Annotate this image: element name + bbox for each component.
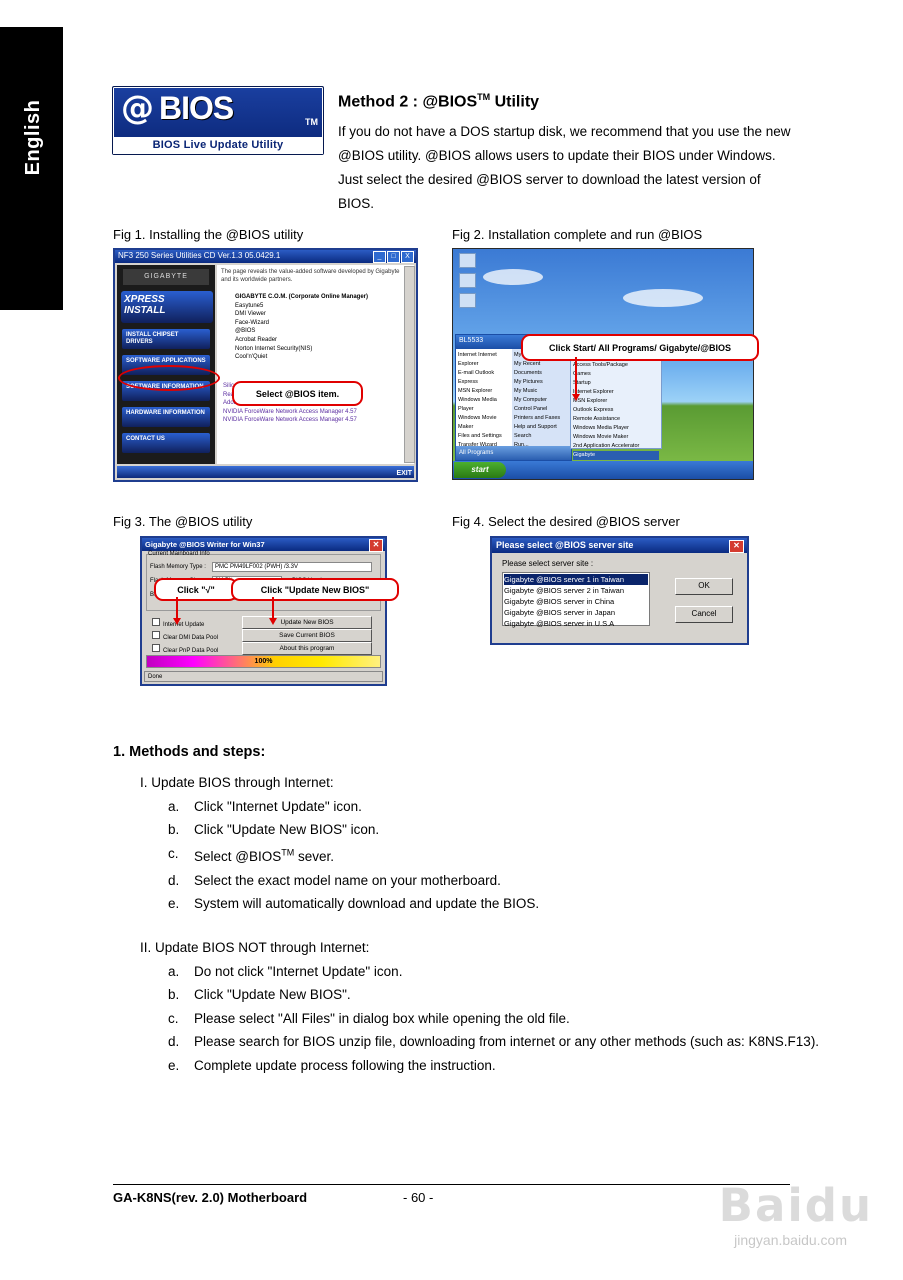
logo-subtitle: BIOS Live Update Utility [113,137,323,154]
language-tab-label: English [22,5,45,270]
folder-icon[interactable] [457,293,477,311]
fig3-arrow-left [176,597,178,619]
group-1-heading: I. Update BIOS through Internet: [140,771,800,795]
fig1-bottom-bar [117,466,414,478]
list-item[interactable]: Norton Internet Security(NIS) [235,345,368,354]
fig1-window-buttons: _ □ X [373,251,414,263]
fig3-title-text: Gigabyte @BIOS Writer for Win37 [145,540,265,549]
fig1-highlight-ellipse [118,365,220,391]
list-item: c.Select @BIOSTM sever. [140,842,800,869]
exit-button[interactable]: EXIT [396,470,412,477]
clear-pnp-pool-checkbox[interactable]: Clear PnP Data Pool [152,644,218,654]
group-2: II. Update BIOS NOT through Internet: a.… [140,936,820,1077]
menu-item[interactable]: Search [514,432,569,441]
hardware-information-button[interactable]: HARDWARE INFORMATION [122,407,210,427]
fig1-scrollbar[interactable] [404,266,415,463]
fig4-titlebar: Please select @BIOS server site ✕ [492,538,747,553]
list-item: d.Select the exact model name on your mo… [140,869,800,893]
language-tab: English [0,27,63,310]
list-item: e.System will automatically download and… [140,892,800,916]
fig4-title-text: Please select @BIOS server site [496,540,633,550]
cloud-icon [623,289,703,307]
footer-model: GA-K8NS(rev. 2.0) Motherboard [113,1190,307,1205]
ok-button[interactable]: OK [675,578,733,595]
item-label: e. [168,892,179,916]
list-item[interactable]: NVIDIA ForceWare Network Access Manager … [223,408,357,417]
list-item[interactable]: DMI Viewer [235,310,368,319]
close-icon[interactable]: ✕ [729,540,744,553]
fig3-titlebar: Gigabyte @BIOS Writer for Win37 ✕ [142,538,385,551]
at-symbol-icon: @ [121,91,154,124]
bios-wordmark: BIOS [159,92,233,124]
trademark-icon: TM [305,117,318,127]
update-new-bios-button[interactable]: Update New BIOS [242,616,372,629]
list-item[interactable]: Gigabyte @BIOS server in Japan [504,607,648,618]
item-text: System will automatically download and u… [194,896,539,911]
fig1-callout: Select @BIOS item. [232,381,363,406]
fig3-arrow-right [272,597,274,619]
maximize-icon[interactable]: □ [387,251,400,263]
list-item: b.Click "Update New BIOS" icon. [140,818,800,842]
group-1: I. Update BIOS through Internet: a.Click… [140,771,800,916]
method-heading-tm: TM [477,92,490,102]
fig1-software-list: GIGABYTE C.O.M. (Corporate Online Manage… [235,293,368,362]
list-item-selected[interactable]: Gigabyte @BIOS server 1 in Taiwan [504,574,648,585]
list-item[interactable]: Gigabyte @BIOS server in U.S.A [504,618,648,629]
flash-memory-type-value: PMC PM49LF002 (PWH) /3.3V [212,562,372,572]
taskbar: start [453,461,753,479]
at-bios-logo: @ BIOS TM BIOS Live Update Utility [112,86,324,155]
fig1-content-pane: The page reveals the value-added softwar… [217,265,414,464]
menu-item[interactable]: Outlook Express [573,406,659,415]
menu-item[interactable]: Windows Media Player [458,396,510,414]
item-label: c. [168,1007,179,1031]
menu-item[interactable]: Access Tools/Package [573,361,659,370]
fig1-note: The page reveals the value-added softwar… [221,268,400,284]
fig2-screenshot: BL5533 Internet Internet Explorer E-mail… [452,248,754,480]
fig4-screenshot: Please select @BIOS server site ✕ Please… [490,536,749,645]
method-paragraph: If you do not have a DOS startup disk, w… [338,120,798,216]
xpress-install-button[interactable]: XPRESSINSTALL [121,291,213,323]
menu-item[interactable]: Help and Support [514,423,569,432]
list-item[interactable]: Cool'n'Quiet [235,353,368,362]
method-heading: Method 2 : @BIOSTM Utility [338,92,539,111]
menu-item[interactable]: Startup [573,379,659,388]
page-section-title: 1. Methods and steps: [113,744,265,760]
fig1-caption: Fig 1. Installing the @BIOS utility [113,227,303,242]
watermark-url: jingyan.baidu.com [734,1232,847,1248]
close-icon[interactable]: ✕ [369,539,383,552]
menu-item[interactable]: Windows Movie Maker [458,414,510,432]
all-programs-item[interactable]: All Programs [456,446,571,460]
start-menu-left-column: Internet Internet Explorer E-mail Outloo… [456,349,512,446]
start-menu-right-column: My Documents My Recent Documents My Pict… [512,349,571,446]
server-list[interactable]: Gigabyte @BIOS server 1 in Taiwan Gigaby… [502,572,650,626]
menu-item[interactable]: MSN Explorer [458,387,510,396]
fig3-caption: Fig 3. The @BIOS utility [113,514,252,529]
contact-us-button[interactable]: CONTACT US [122,433,210,453]
status-bar: Done [144,671,383,682]
start-button[interactable]: start [454,462,506,478]
item-text: Click "Update New BIOS". [194,987,351,1002]
menu-item[interactable]: MSN Explorer [573,397,659,406]
list-item: a.Do not click "Internet Update" icon. [140,960,820,984]
menu-item[interactable]: E-mail Outlook Express [458,369,510,387]
cloud-icon [483,269,543,285]
item-label: b. [168,983,179,1007]
flash-memory-type-label: Flash Memory Type : [150,564,206,570]
my-computer-icon[interactable] [457,273,477,291]
desktop-icons [457,253,477,313]
item-text: Click "Update New BIOS" icon. [194,822,379,837]
all-programs-submenu: Accessories Access Tools/Package Games S… [570,349,662,449]
item-label: d. [168,1030,179,1054]
fig2-callout-arrow [575,357,577,395]
menu-item[interactable]: 2nd Application Accelerator [573,442,659,451]
minimize-icon[interactable]: _ [373,251,386,263]
list-item: b.Click "Update New BIOS". [140,983,820,1007]
method-heading-text: Method 2 : @BIOS [338,93,477,110]
menu-item[interactable]: Internet Explorer [573,388,659,397]
item-label: a. [168,960,179,984]
fig1-titlebar: NF3 250 Series Utilities CD Ver.1.3 05.0… [115,250,416,263]
list-item: c.Please select "All Files" in dialog bo… [140,1007,820,1031]
menu-item-gigabyte[interactable]: Gigabyte [573,451,659,460]
footer-page-number: - 60 - [403,1190,433,1205]
list-item: a.Click "Internet Update" icon. [140,795,800,819]
recycle-bin-icon[interactable] [457,253,477,271]
menu-item[interactable]: Control Panel [514,405,569,414]
watermark-logo: Baidu [719,1179,873,1232]
menu-item[interactable]: My Computer [514,396,569,405]
gigabyte-logo: GIGABYTE [123,269,209,285]
list-item: GIGABYTE C.O.M. (Corporate Online Manage… [235,293,368,302]
item-label: c. [168,842,179,866]
close-icon[interactable]: X [401,251,414,263]
menu-item[interactable]: My Music [514,387,569,396]
group-2-heading: II. Update BIOS NOT through Internet: [140,936,820,960]
item-text: Please select "All Files" in dialog box … [194,1011,570,1026]
list-item-at-bios[interactable]: @BIOS [235,327,368,336]
item-label: d. [168,869,179,893]
item-text: Do not click "Internet Update" icon. [194,964,402,979]
item-text: Select the exact model name on your moth… [194,873,501,888]
about-program-button[interactable]: About this program [242,642,372,655]
item-label: b. [168,818,179,842]
menu-item[interactable]: My Recent Documents [514,360,569,378]
menu-item[interactable]: Remote Assistance [573,415,659,424]
list-item[interactable]: Face-Wizard [235,319,368,328]
fig1-title-text: NF3 250 Series Utilities CD Ver.1.3 05.0… [118,251,280,260]
list-item: d.Please search for BIOS unzip file, dow… [140,1030,820,1054]
item-label: e. [168,1054,179,1078]
cancel-button[interactable]: Cancel [675,606,733,623]
save-current-bios-button[interactable]: Save Current BIOS [242,629,372,642]
menu-item[interactable]: Windows Media Player [573,424,659,433]
install-chipset-drivers-button[interactable]: INSTALL CHIPSET DRIVERS [122,329,210,349]
item-text: Click "Internet Update" icon. [194,799,362,814]
server-select-label: Please select server site : [502,559,593,568]
mainboard-info-label: Current Mainboard Info [148,551,210,557]
item-label: a. [168,795,179,819]
clear-dmi-pool-checkbox[interactable]: Clear DMI Data Pool [152,631,218,641]
list-item: e.Complete update process following the … [140,1054,820,1078]
menu-item[interactable]: Windows Movie Maker [573,433,659,442]
menu-item[interactable]: Printers and Faxes [514,414,569,423]
list-item[interactable]: Easytune5 [235,302,368,311]
list-item[interactable]: NVIDIA ForceWare Network Access Manager … [223,416,357,425]
fig2-caption: Fig 2. Installation complete and run @BI… [452,227,702,242]
item-text: Please search for BIOS unzip file, downl… [194,1034,819,1049]
list-item[interactable]: Gigabyte @BIOS server 2 in Taiwan [504,585,648,596]
menu-item[interactable]: Games [573,370,659,379]
footer-divider [113,1184,790,1185]
progress-bar: 100% [146,655,381,668]
fig2-callout: Click Start/ All Programs/ Gigabyte/@BIO… [521,334,759,361]
menu-item[interactable]: Internet Internet Explorer [458,351,510,369]
fig3-callout-left: Click "√" [154,578,238,601]
item-text: Complete update process following the in… [194,1058,496,1073]
fig3-callout-right: Click "Update New BIOS" [231,578,399,601]
list-item[interactable]: Gigabyte @BIOS server in China [504,596,648,607]
fig4-caption: Fig 4. Select the desired @BIOS server [452,514,680,529]
item-text: Select @BIOSTM sever. [194,849,334,864]
menu-item[interactable]: My Pictures [514,378,569,387]
method-heading-tail: Utility [490,93,539,110]
list-item[interactable]: Acrobat Reader [235,336,368,345]
